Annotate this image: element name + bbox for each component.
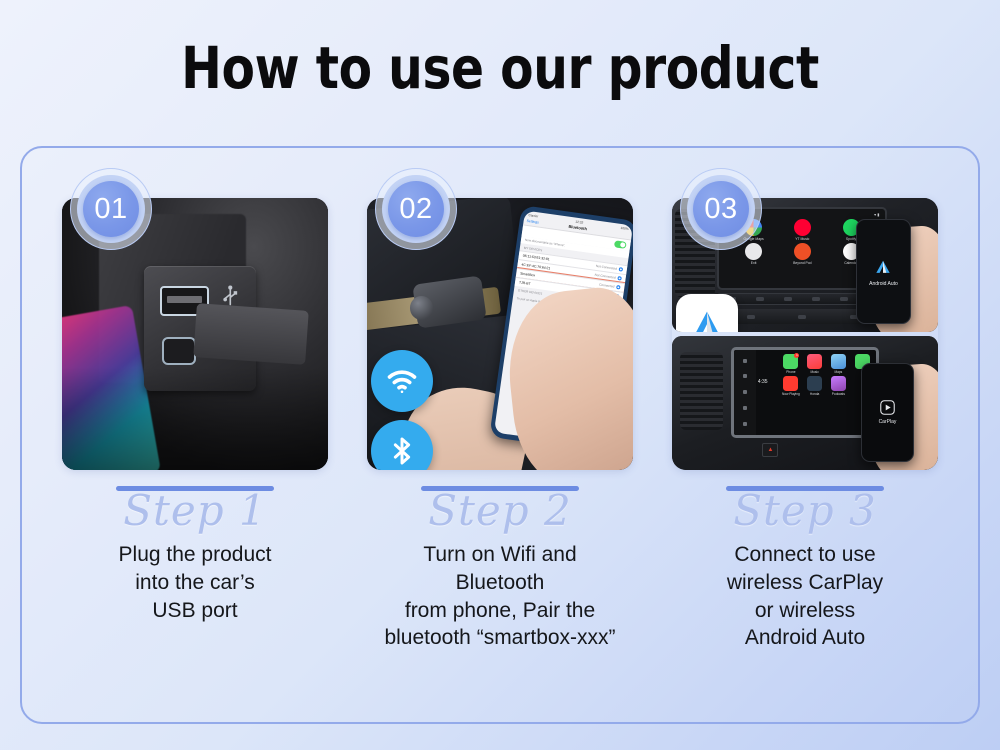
app-label: YT Music: [795, 237, 809, 241]
sidebar-icon[interactable]: [743, 406, 747, 410]
step-script-label-2: Step 2: [428, 487, 571, 535]
wifi-icon: [371, 350, 433, 412]
step-card-1: 01: [50, 146, 340, 724]
climate-button[interactable]: [747, 315, 755, 319]
step-badge-1: 01: [70, 168, 152, 250]
bluetooth-toggle[interactable]: [614, 240, 627, 248]
device-status: Not Connected: [596, 263, 618, 270]
device-status: Not Connected: [595, 272, 617, 279]
app-label: Spotify: [846, 237, 856, 241]
step-card-2: 02 Carrier 12:32 100%: [355, 146, 645, 724]
app-tile[interactable]: Now Playing: [781, 376, 802, 396]
carplay-display: 4:35 1 Phone: [731, 347, 880, 438]
carplay-app-grid: 1 Phone Music: [760, 354, 872, 396]
app-tile[interactable]: Music: [804, 354, 825, 374]
home-icon[interactable]: [743, 374, 747, 378]
device-status: Connected: [599, 282, 615, 288]
badge-core: 01: [83, 181, 139, 237]
info-icon[interactable]: i: [618, 275, 623, 280]
climate-button[interactable]: [798, 315, 806, 319]
app-tile[interactable]: Beyond Pod: [780, 243, 825, 265]
aux-port: [162, 337, 196, 365]
app-label: Music: [810, 370, 818, 374]
step-caption-1: Plug the product into the car’s USB port: [119, 541, 272, 624]
usb-connector-plug: [193, 303, 308, 365]
app-label: Phone: [786, 370, 795, 374]
honda-icon: [807, 376, 822, 391]
step-script-label-1: Step 1: [123, 487, 266, 535]
air-vent: [680, 352, 723, 430]
app-label: Honda: [810, 392, 819, 396]
info-icon[interactable]: i: [619, 266, 624, 271]
hardware-button[interactable]: [840, 297, 848, 301]
step-number-3: 03: [704, 195, 737, 224]
step-badge-2: 02: [375, 168, 457, 250]
phone-app-label: Android Auto: [869, 281, 898, 287]
signal-icons: ▾ ▮: [874, 212, 879, 217]
hazard-light-button[interactable]: ▲: [762, 443, 778, 456]
now-playing-icon: [783, 376, 798, 391]
app-label: Now Playing: [782, 392, 800, 396]
android-auto-glyph-icon: [873, 257, 893, 277]
device-name: SmartBox: [520, 271, 535, 277]
app-label: Podcasts: [832, 392, 845, 396]
app-label: Maps: [834, 370, 842, 374]
step-caption-2: Turn on Wifi and Bluetooth from phone, P…: [384, 541, 615, 652]
app-tile[interactable]: Podcasts: [828, 376, 849, 396]
app-tile[interactable]: 1 Phone: [781, 354, 802, 374]
carplay-home-screen: 4:35 1 Phone: [756, 350, 876, 435]
bluetooth-screen-title: Bluetooth: [569, 223, 588, 231]
hazard-triangle-icon: ▲: [767, 447, 773, 453]
sidebar-icon[interactable]: [743, 390, 747, 394]
carplay-photo: 4:35 1 Phone: [672, 336, 938, 470]
sidebar-icon[interactable]: [743, 359, 747, 363]
music-icon: [807, 354, 822, 369]
hardware-button[interactable]: [784, 297, 792, 301]
device-name: TJR-BT: [519, 279, 531, 285]
carplay-clock: 4:35: [758, 379, 768, 385]
step-script-label-3: Step 3: [733, 487, 876, 535]
phone-device: CarPlay: [861, 363, 914, 462]
beyond-pod-icon: [794, 243, 811, 260]
phone-app-label: CarPlay: [879, 419, 897, 425]
app-tile[interactable]: YT Music: [780, 219, 825, 241]
sidebar-icon[interactable]: [743, 422, 747, 426]
carplay-scene: 4:35 1 Phone: [672, 336, 938, 470]
badge-core: 03: [693, 181, 749, 237]
step-card-3: 03 12:32 ▾ ▮: [660, 146, 950, 724]
back-to-settings-link[interactable]: Settings: [527, 218, 540, 224]
info-icon[interactable]: i: [617, 284, 622, 289]
carplay-glyph-icon: [879, 399, 896, 416]
podcasts-icon: [831, 376, 846, 391]
app-label: Exit: [751, 261, 757, 265]
hardware-button[interactable]: [756, 297, 764, 301]
poster-root: How to use our product 01: [0, 0, 1000, 750]
android-auto-glyph-icon: [687, 305, 727, 332]
page-title: How to use our product: [80, 34, 920, 102]
step-number-1: 01: [94, 195, 127, 224]
carplay-sidebar: [734, 350, 757, 435]
android-auto-icon: [676, 294, 738, 332]
app-tile[interactable]: Maps: [828, 354, 849, 374]
step-badge-3: 03: [680, 168, 762, 250]
hardware-button[interactable]: [812, 297, 820, 301]
phone-device: Android Auto: [856, 219, 912, 324]
notification-badge: 1: [794, 353, 799, 358]
step-caption-3: Connect to use wireless CarPlay or wirel…: [727, 541, 883, 652]
yt-music-icon: [794, 219, 811, 236]
app-label: Beyond Pod: [793, 261, 811, 265]
phone-icon: 1: [783, 354, 798, 369]
maps-icon: [831, 354, 846, 369]
step-number-2: 02: [399, 195, 432, 224]
steps-row: 01: [20, 146, 980, 724]
app-tile[interactable]: Honda: [804, 376, 825, 396]
badge-core: 02: [388, 181, 444, 237]
